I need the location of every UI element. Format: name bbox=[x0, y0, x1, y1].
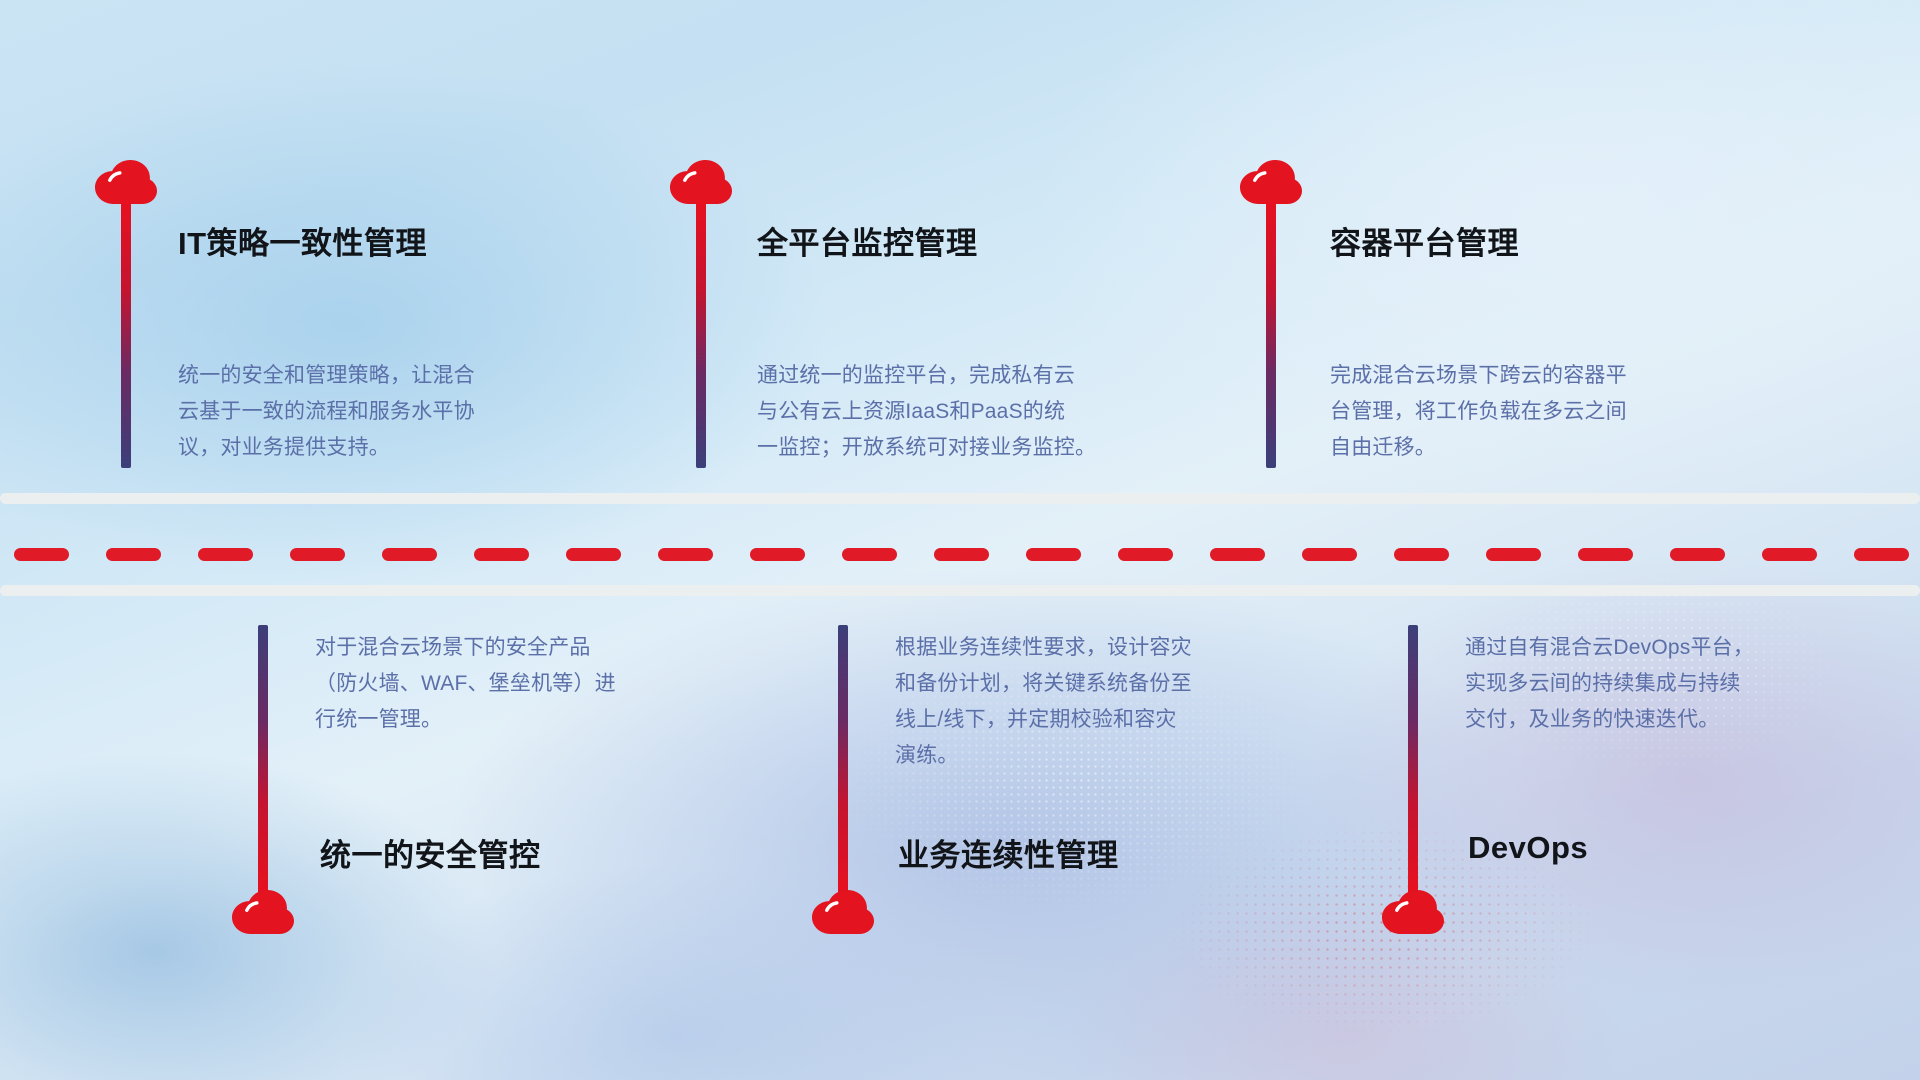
connector-stem bbox=[1408, 625, 1418, 895]
dash-segment bbox=[1762, 548, 1817, 561]
dash-segment bbox=[658, 548, 713, 561]
dash-segment bbox=[1670, 548, 1725, 561]
cloud-icon bbox=[232, 890, 294, 936]
dash-segment bbox=[106, 548, 161, 561]
solid-rule-top bbox=[0, 493, 1920, 504]
cloud-icon bbox=[1382, 890, 1444, 936]
connector-stem bbox=[696, 200, 706, 468]
connector-stem bbox=[258, 625, 268, 895]
section-body: 完成混合云场景下跨云的容器平 台管理，将工作负载在多云之间 自由迁移。 bbox=[1330, 358, 1750, 466]
dash-segment bbox=[1210, 548, 1265, 561]
dash-segment bbox=[382, 548, 437, 561]
connector-stem bbox=[838, 625, 848, 895]
dashed-road-line bbox=[0, 548, 1920, 561]
dash-segment bbox=[1026, 548, 1081, 561]
connector-stem bbox=[1266, 200, 1276, 468]
dash-segment bbox=[566, 548, 621, 561]
cloud-icon bbox=[812, 890, 874, 936]
dash-segment bbox=[842, 548, 897, 561]
connector-stem bbox=[121, 200, 131, 468]
dash-segment bbox=[1302, 548, 1357, 561]
dash-segment bbox=[1578, 548, 1633, 561]
dash-segment bbox=[934, 548, 989, 561]
dash-segment bbox=[14, 548, 69, 561]
section-heading: 全平台监控管理 bbox=[757, 218, 978, 263]
dash-segment bbox=[1394, 548, 1449, 561]
section-body: 通过统一的监控平台，完成私有云 与公有云上资源IaaS和PaaS的统 一监控；开… bbox=[757, 358, 1197, 466]
dash-segment bbox=[1854, 548, 1909, 561]
dash-segment bbox=[750, 548, 805, 561]
solid-rule-bottom bbox=[0, 585, 1920, 596]
section-body: 统一的安全和管理策略，让混合 云基于一致的流程和服务水平协 议，对业务提供支持。 bbox=[178, 358, 598, 466]
dash-segment bbox=[1486, 548, 1541, 561]
section-body: 通过自有混合云DevOps平台， 实现多云间的持续集成与持续 交付，及业务的快速… bbox=[1465, 630, 1885, 738]
dash-segment bbox=[1118, 548, 1173, 561]
section-heading: IT策略一致性管理 bbox=[178, 218, 427, 263]
section-body: 根据业务连续性要求，设计容灾 和备份计划，将关键系统备份至 线上/线下，并定期校… bbox=[895, 630, 1315, 774]
dash-segment bbox=[290, 548, 345, 561]
dash-segment bbox=[474, 548, 529, 561]
dash-segment bbox=[198, 548, 253, 561]
section-heading: DevOps bbox=[1468, 830, 1588, 866]
section-heading: 容器平台管理 bbox=[1330, 218, 1519, 263]
section-heading: 统一的安全管控 bbox=[320, 830, 541, 875]
section-heading: 业务连续性管理 bbox=[898, 830, 1119, 875]
section-body: 对于混合云场景下的安全产品 （防火墙、WAF、堡垒机等）进 行统一管理。 bbox=[315, 630, 735, 738]
